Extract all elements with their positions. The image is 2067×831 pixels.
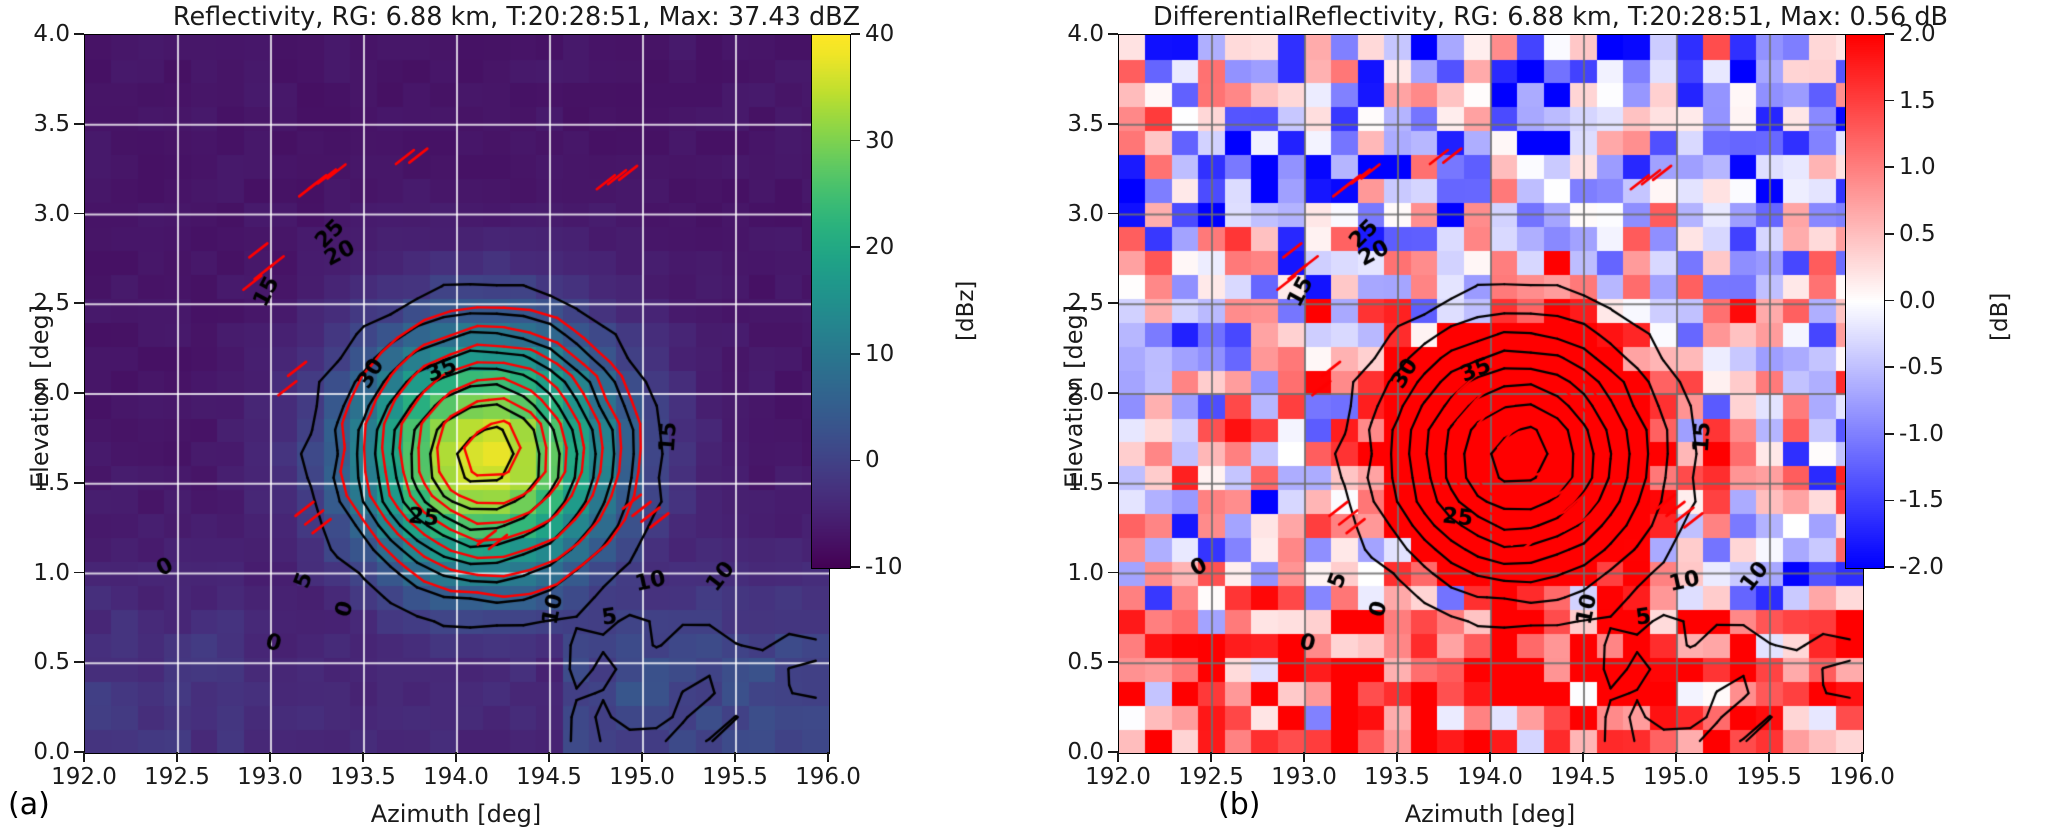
panel-b-xtick-mark — [1117, 752, 1119, 762]
panel-b-xtick-mark — [1210, 752, 1212, 762]
panel-a-cbar-tick-mark — [851, 33, 860, 35]
panel-b-cbar-tick-mark — [1885, 433, 1894, 435]
panel-b-ytick-label: 3.5 — [1032, 113, 1104, 136]
panel-b-cbar-tick-label: -2.0 — [1899, 556, 1944, 579]
panel-b-ytick-label: 2.5 — [1032, 292, 1104, 315]
figure-root: Reflectivity, RG: 6.88 km, T:20:28:51, M… — [0, 0, 2067, 831]
panel-a-cbar-tick-label: -10 — [865, 556, 903, 579]
panel-b-xtick-mark — [1582, 752, 1584, 762]
panel-a-cbar-tick-label: 20 — [865, 236, 894, 259]
panel-a-xtick-mark — [269, 752, 271, 762]
panel-a-xtick-label: 196.0 — [768, 766, 888, 789]
panel-a-ytick-mark — [74, 392, 84, 394]
panel-b-cbar-tick-label: -1.0 — [1899, 423, 1944, 446]
panel-b-cbar-tick-label: 0.5 — [1899, 223, 1936, 246]
panel-a-xtick-mark — [548, 752, 550, 762]
panel-a-ytick-mark — [74, 123, 84, 125]
panel-b-heatmap-canvas — [1119, 35, 1863, 753]
panel-a-xtick-mark — [83, 752, 85, 762]
panel-b-xtick-mark — [1675, 752, 1677, 762]
panel-a-cbar-tick-mark — [851, 460, 860, 462]
panel-a-label: (a) — [8, 790, 50, 820]
panel-b-cbar-tick-label: -0.5 — [1899, 356, 1944, 379]
panel-b-cbar-tick-mark — [1885, 33, 1894, 35]
panel-a-cbar-tick-mark — [851, 353, 860, 355]
panel-a-cbar-tick-mark — [851, 140, 860, 142]
panel-a-ytick-label: 0.0 — [0, 741, 70, 764]
panel-a-ytick-label: 4.0 — [0, 23, 70, 46]
panel-a-plot-area — [84, 34, 830, 754]
panel-b-xtick-mark — [1489, 752, 1491, 762]
panel-b-cbar-tick-mark — [1885, 566, 1894, 568]
panel-b-ytick-label: 0.0 — [1032, 741, 1104, 764]
panel-b-ytick-mark — [1108, 33, 1118, 35]
panel-a-ytick-mark — [74, 572, 84, 574]
panel-b-cbar-tick-mark — [1885, 500, 1894, 502]
panel-b-label: (b) — [1218, 790, 1260, 820]
panel-b-colorbar-gradient — [1846, 35, 1884, 568]
panel-b-xtick-mark — [1303, 752, 1305, 762]
panel-b-cbar-tick-mark — [1885, 366, 1894, 368]
panel-reflectivity: Reflectivity, RG: 6.88 km, T:20:28:51, M… — [0, 0, 1033, 831]
panel-a-cbar-tick-label: 30 — [865, 130, 894, 153]
panel-b-ytick-label: 4.0 — [1032, 23, 1104, 46]
panel-b-colorbar — [1845, 34, 1885, 569]
panel-a-xtick-mark — [827, 752, 829, 762]
panel-a-ytick-mark — [74, 33, 84, 35]
panel-b-cbar-tick-label: -1.5 — [1899, 489, 1944, 512]
panel-b-plot-area — [1118, 34, 1864, 754]
panel-a-cbar-tick-label: 10 — [865, 343, 894, 366]
panel-b-ytick-label: 3.0 — [1032, 203, 1104, 226]
panel-b-xtick-label: 196.0 — [1802, 766, 1922, 789]
panel-a-colorbar — [811, 34, 851, 569]
panel-b-cbar-tick-label: 0.0 — [1899, 290, 1936, 313]
panel-b-ytick-mark — [1108, 123, 1118, 125]
panel-b-ytick-mark — [1108, 392, 1118, 394]
panel-a-cbar-tick-label: 40 — [865, 23, 894, 46]
panel-b-cbar-tick-label: 1.0 — [1899, 156, 1936, 179]
panel-a-xtick-mark — [734, 752, 736, 762]
panel-a-heatmap-canvas — [85, 35, 829, 753]
panel-b-ytick-label: 1.0 — [1032, 562, 1104, 585]
panel-a-xtick-mark — [641, 752, 643, 762]
panel-a-ytick-mark — [74, 302, 84, 304]
panel-b-cbar-tick-label: 2.0 — [1899, 23, 1936, 46]
panel-a-cbar-tick-mark — [851, 566, 860, 568]
panel-a-ytick-label: 3.5 — [0, 113, 70, 136]
panel-b-ytick-mark — [1108, 572, 1118, 574]
panel-a-ytick-mark — [74, 661, 84, 663]
panel-b-cbar-tick-mark — [1885, 233, 1894, 235]
panel-b-ytick-label: 2.0 — [1032, 382, 1104, 405]
panel-b-xtick-mark — [1768, 752, 1770, 762]
panel-a-ytick-label: 3.0 — [0, 203, 70, 226]
panel-b-ytick-mark — [1108, 482, 1118, 484]
panel-a-ytick-label: 1.0 — [0, 562, 70, 585]
panel-b-cbar-tick-mark — [1885, 300, 1894, 302]
panel-b-ytick-mark — [1108, 213, 1118, 215]
panel-b-ytick-label: 1.5 — [1032, 472, 1104, 495]
panel-b-cbar-tick-mark — [1885, 166, 1894, 168]
panel-b-xtick-mark — [1861, 752, 1863, 762]
panel-b-ytick-mark — [1108, 302, 1118, 304]
panel-b-ytick-mark — [1108, 661, 1118, 663]
panel-b-cbar-tick-mark — [1885, 100, 1894, 102]
panel-a-colorbar-gradient — [812, 35, 850, 568]
panel-a-xtick-mark — [176, 752, 178, 762]
panel-a-xtick-mark — [362, 752, 364, 762]
panel-a-ytick-label: 0.5 — [0, 651, 70, 674]
panel-a-ytick-label: 2.0 — [0, 382, 70, 405]
panel-a-ytick-label: 1.5 — [0, 472, 70, 495]
panel-a-cbar-tick-label: 0 — [865, 449, 880, 472]
panel-a-xaxis-title: Azimuth [deg] — [84, 800, 828, 828]
panel-b-cbar-tick-label: 1.5 — [1899, 90, 1936, 113]
panel-a-cbar-tick-mark — [851, 246, 860, 248]
panel-a-ytick-mark — [74, 482, 84, 484]
panel-b-xtick-mark — [1396, 752, 1398, 762]
panel-a-xtick-mark — [455, 752, 457, 762]
panel-b-ytick-label: 0.5 — [1032, 651, 1104, 674]
panel-b-colorbar-title: [dB] — [1987, 292, 2013, 340]
panel-a-ytick-label: 2.5 — [0, 292, 70, 315]
panel-a-ytick-mark — [74, 213, 84, 215]
panel-a-colorbar-title: [dBz] — [953, 280, 979, 340]
panel-differential-reflectivity: DifferentialReflectivity, RG: 6.88 km, T… — [1034, 0, 2067, 831]
